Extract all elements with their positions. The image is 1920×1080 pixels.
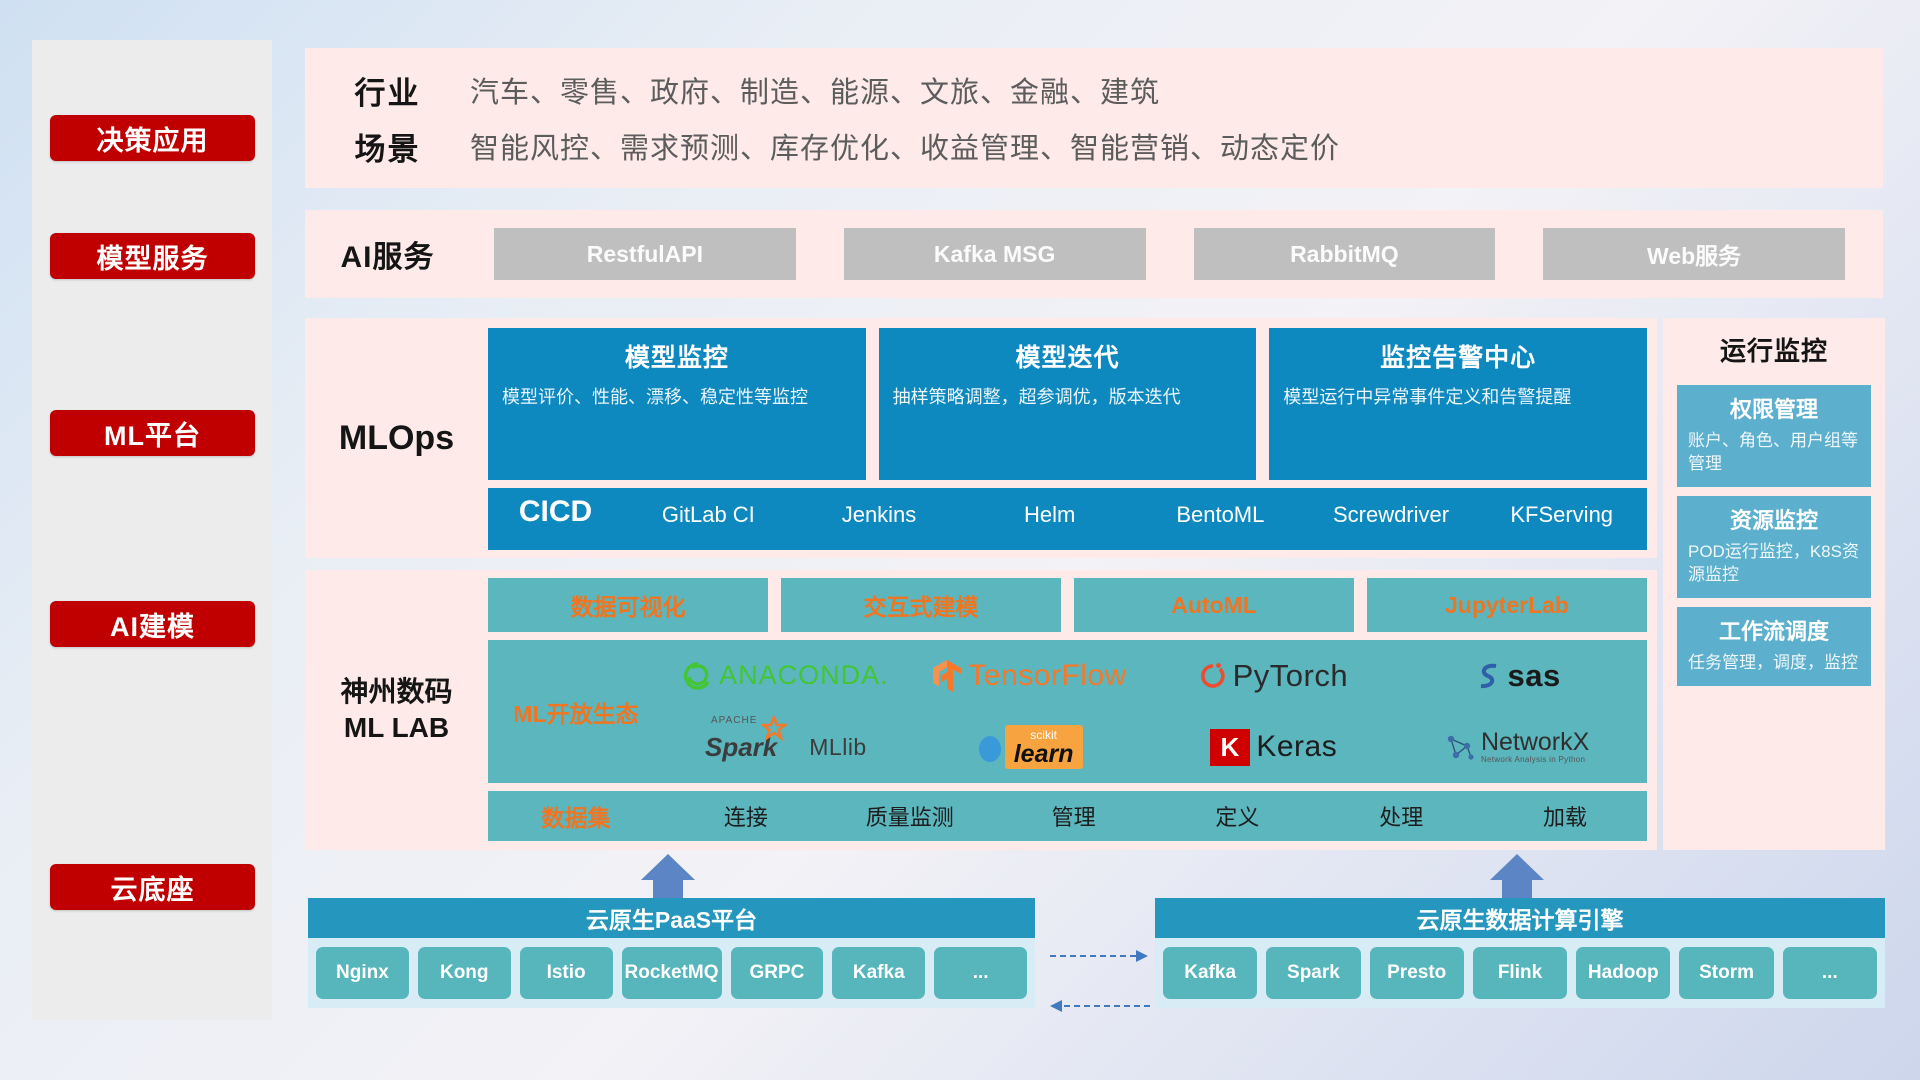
rail-label: 决策应用 [97,119,209,158]
mlops-card-desc: 模型运行中异常事件定义和告警提醒 [1283,385,1633,410]
monitoring-card-title: 资源监控 [1688,503,1860,535]
monitoring-panel: 运行监控 权限管理 账户、角色、用户组等管理 资源监控 POD运行监控，K8S资… [1663,318,1885,850]
mlops-card-model-monitoring[interactable]: 模型监控 模型评价、性能、漂移、稳定性等监控 [488,328,866,480]
paas-chip-grpc[interactable]: GRPC [731,947,824,999]
scenario-row: 场景 智能风控、需求预测、库存优化、收益管理、智能营销、动态定价 [305,120,1883,172]
arrow-up-compute [1490,854,1544,900]
anaconda-icon [683,661,713,691]
ml-lab-band: 神州数码 ML LAB 数据可视化 交互式建模 AutoML JupyterLa… [305,570,1657,850]
cicd-item-screwdriver[interactable]: Screwdriver [1306,488,1477,527]
monitoring-card-title: 工作流调度 [1688,614,1860,646]
paas-chip-nginx[interactable]: Nginx [316,947,409,999]
ai-service-button-rabbitmq[interactable]: RabbitMQ [1194,228,1496,280]
compute-chip-more[interactable]: ... [1783,947,1877,999]
cicd-item-kfserving[interactable]: KFServing [1476,488,1647,527]
ai-service-button-web[interactable]: Web服务 [1543,228,1845,280]
rail-label: ML平台 [104,414,201,453]
tensorflow-icon [932,659,962,693]
logo-tensorflow: TensorFlow [932,659,1126,693]
paas-chips: Nginx Kong Istio RocketMQ GRPC Kafka ... [308,938,1035,1008]
ml-lab-tile-interactive-modeling[interactable]: 交互式建模 [781,578,1061,632]
industry-row: 行业 汽车、零售、政府、制造、能源、文旅、金融、建筑 [305,64,1883,116]
ml-lab-tile-automl[interactable]: AutoML [1074,578,1354,632]
ml-lab-tile-data-visualization[interactable]: 数据可视化 [488,578,768,632]
dataset-item-manage[interactable]: 管理 [992,800,1156,832]
mlops-card-desc: 抽样策略调整，超参调优，版本迭代 [893,385,1243,410]
compute-chip-hadoop[interactable]: Hadoop [1576,947,1670,999]
monitoring-card-workflow[interactable]: 工作流调度 任务管理，调度，监控 [1677,607,1871,686]
logo-keras: K Keras [1210,729,1338,766]
left-rail: 决策应用 模型服务 ML平台 AI建模 云底座 [32,40,272,1020]
rail-item-ml-platform[interactable]: ML平台 [50,410,255,456]
monitoring-card-title: 权限管理 [1688,392,1860,424]
dataset-item-define[interactable]: 定义 [1155,800,1319,832]
logo-sas-text: sas [1508,658,1561,694]
ml-ecosystem-label: ML开放生态 [488,695,664,729]
monitoring-card-desc: 任务管理，调度，监控 [1688,652,1860,675]
mlops-card-title: 模型监控 [502,338,852,374]
ml-lab-label: 神州数码 ML LAB [305,570,488,850]
monitoring-card-permissions[interactable]: 权限管理 账户、角色、用户组等管理 [1677,385,1871,487]
compute-chip-kafka[interactable]: Kafka [1163,947,1257,999]
dashed-arrow-right [1050,950,1150,962]
logo-spark-mllib: APACHE Spark MLlib [705,732,867,763]
ml-lab-label-line2: ML LAB [344,710,449,746]
mlops-card-alert-center[interactable]: 监控告警中心 模型运行中异常事件定义和告警提醒 [1269,328,1647,480]
scenario-key: 场景 [305,124,470,169]
cicd-item-jenkins[interactable]: Jenkins [794,488,965,527]
rail-item-model-service[interactable]: 模型服务 [50,233,255,279]
spark-apache-text: APACHE [711,715,757,726]
ml-lab-label-line1: 神州数码 [340,674,452,710]
industry-scenario-band: 行业 汽车、零售、政府、制造、能源、文旅、金融、建筑 场景 智能风控、需求预测、… [305,48,1883,188]
diagram-canvas: 决策应用 模型服务 ML平台 AI建模 云底座 行业 汽车、零售、政府、制造、能… [0,0,1920,1080]
rail-label: 云底座 [111,868,195,907]
rail-item-ai-modeling[interactable]: AI建模 [50,601,255,647]
scikit-learn-badge: scikit learn [1005,725,1083,769]
cicd-item-helm[interactable]: Helm [964,488,1135,527]
rail-item-decision-app[interactable]: 决策应用 [50,115,255,161]
mlops-card-model-iteration[interactable]: 模型迭代 抽样策略调整，超参调优，版本迭代 [879,328,1257,480]
dataset-item-process[interactable]: 处理 [1319,800,1483,832]
ai-service-button-restfulapi[interactable]: RestfulAPI [494,228,796,280]
paas-chip-rocketmq[interactable]: RocketMQ [622,947,722,999]
industry-key: 行业 [305,68,470,113]
industry-value: 汽车、零售、政府、制造、能源、文旅、金融、建筑 [470,69,1160,111]
cicd-bar: CICD GitLab CI Jenkins Helm BentoML Scre… [488,488,1647,550]
logo-learn-text: learn [1014,741,1074,767]
spark-icon: APACHE Spark [705,732,777,763]
monitoring-card-desc: 账户、角色、用户组等管理 [1688,430,1860,476]
mlops-card-desc: 模型评价、性能、漂移、稳定性等监控 [502,385,852,410]
paas-platform-box: 云原生PaaS平台 Nginx Kong Istio RocketMQ GRPC… [308,898,1035,1008]
rail-label: AI建模 [110,605,195,644]
dashed-arrow-left [1050,1000,1150,1012]
logo-anaconda-text: ANACONDA. [719,660,889,691]
logo-networkx: NetworkX Network Analysis in Python [1445,730,1589,764]
ml-ecosystem-row: ML开放生态 ANACONDA. [488,640,1647,783]
ai-service-buttons: RestfulAPI Kafka MSG RabbitMQ Web服务 [470,228,1883,280]
compute-header: 云原生数据计算引擎 [1155,898,1885,938]
cicd-item-gitlab-ci[interactable]: GitLab CI [623,488,794,527]
dataset-item-quality[interactable]: 质量监测 [828,800,992,832]
ml-lab-tiles: 数据可视化 交互式建模 AutoML JupyterLab [488,578,1647,632]
paas-chip-kong[interactable]: Kong [418,947,511,999]
monitoring-title: 运行监控 [1663,318,1885,376]
cicd-item-bentoml[interactable]: BentoML [1135,488,1306,527]
logo-scikit-learn: scikit learn [977,725,1083,769]
arrow-up-paas [641,854,695,900]
compute-chip-flink[interactable]: Flink [1473,947,1567,999]
logo-mllib-text: MLlib [809,734,866,761]
keras-icon: K [1210,729,1251,766]
rail-label: 模型服务 [97,237,209,276]
cicd-title: CICD [488,488,623,536]
networkx-wordmark: NetworkX Network Analysis in Python [1481,730,1589,764]
monitoring-card-desc: POD运行监控，K8S资源监控 [1688,541,1860,587]
logo-tensorflow-text: TensorFlow [968,659,1126,693]
mlops-card-title: 模型迭代 [893,338,1243,374]
paas-chip-istio[interactable]: Istio [520,947,613,999]
dataset-item-load[interactable]: 加载 [1483,800,1647,832]
mlops-cards: 模型监控 模型评价、性能、漂移、稳定性等监控 模型迭代 抽样策略调整，超参调优，… [488,328,1647,480]
dataset-item-connect[interactable]: 连接 [664,800,828,832]
ai-service-band: AI服务 RestfulAPI Kafka MSG RabbitMQ Web服务 [305,210,1883,298]
dataset-row: 数据集 连接 质量监测 管理 定义 处理 加载 [488,791,1647,841]
ml-lab-tile-jupyterlab[interactable]: JupyterLab [1367,578,1647,632]
pytorch-icon [1199,660,1227,692]
scenario-value: 智能风控、需求预测、库存优化、收益管理、智能营销、动态定价 [470,125,1340,167]
sas-icon [1474,661,1502,691]
dataset-label: 数据集 [488,799,664,833]
mlops-label: MLOps [305,318,488,558]
ai-service-button-kafka-msg[interactable]: Kafka MSG [844,228,1146,280]
mlops-card-title: 监控告警中心 [1283,338,1633,374]
ml-ecosystem-logos: ANACONDA. TensorFlow [664,640,1647,783]
spark-star-icon [761,716,787,742]
logo-networkx-text: NetworkX [1481,730,1589,755]
compute-chip-presto[interactable]: Presto [1370,947,1464,999]
mlops-band: MLOps 模型监控 模型评价、性能、漂移、稳定性等监控 模型迭代 抽样策略调整… [305,318,1657,558]
logo-keras-text: Keras [1256,730,1337,764]
networkx-icon [1445,732,1475,762]
logo-anaconda: ANACONDA. [683,660,889,691]
networkx-subtitle: Network Analysis in Python [1481,755,1589,764]
logo-pytorch-text: PyTorch [1233,658,1348,694]
ml-lab-body: 数据可视化 交互式建模 AutoML JupyterLab ML开放生态 ANA… [488,578,1647,842]
logo-pytorch: PyTorch [1199,658,1348,694]
compute-chips: Kafka Spark Presto Flink Hadoop Storm ..… [1155,938,1885,1008]
rail-item-cloud-base[interactable]: 云底座 [50,864,255,910]
paas-header: 云原生PaaS平台 [308,898,1035,938]
monitoring-card-resources[interactable]: 资源监控 POD运行监控，K8S资源监控 [1677,496,1871,598]
compute-chip-spark[interactable]: Spark [1266,947,1360,999]
paas-chip-more[interactable]: ... [934,947,1027,999]
compute-engine-box: 云原生数据计算引擎 Kafka Spark Presto Flink Hadoo… [1155,898,1885,1008]
logo-sas: sas [1474,658,1561,694]
paas-chip-kafka[interactable]: Kafka [832,947,925,999]
compute-chip-storm[interactable]: Storm [1679,947,1773,999]
ai-service-label: AI服务 [305,232,470,276]
